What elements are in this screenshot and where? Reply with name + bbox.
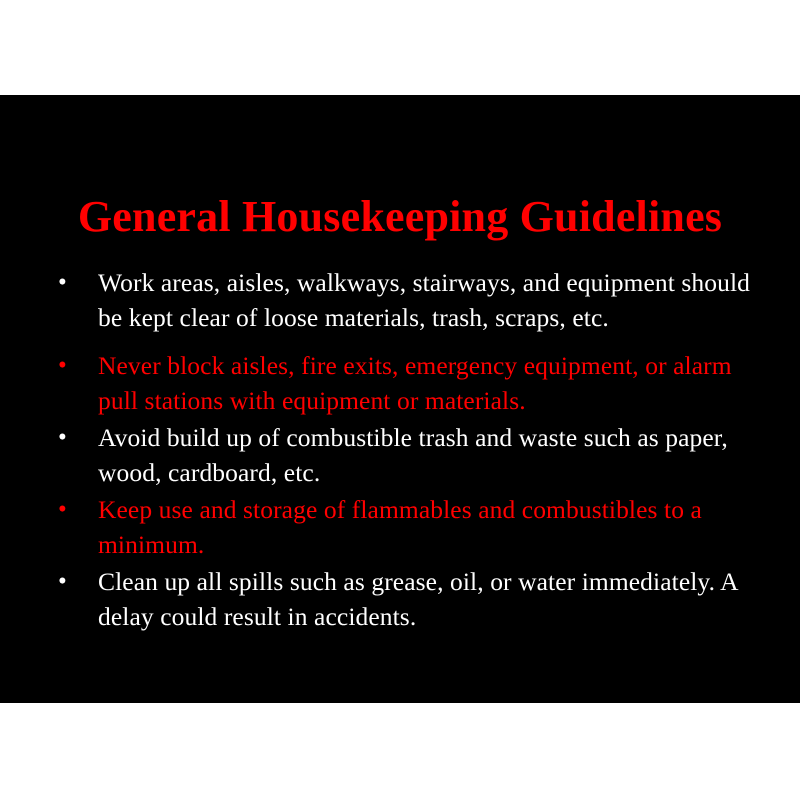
list-item: • Never block aisles, fire exits, emerge… [52, 348, 762, 418]
list-item: • Keep use and storage of flammables and… [52, 492, 762, 562]
list-item: • Clean up all spills such as grease, oi… [52, 564, 762, 634]
list-item-text: Clean up all spills such as grease, oil,… [98, 564, 762, 634]
list-item: • Work areas, aisles, walkways, stairway… [52, 265, 762, 335]
bullet-point-icon: • [52, 564, 98, 599]
slide-canvas: General Housekeeping Guidelines • Work a… [0, 95, 800, 703]
list-item: • Avoid build up of combustible trash an… [52, 420, 762, 490]
list-item-text: Avoid build up of combustible trash and … [98, 420, 762, 490]
bullet-point-icon: • [52, 492, 98, 527]
list-item-text: Work areas, aisles, walkways, stairways,… [98, 265, 762, 335]
bullet-point-icon: • [52, 348, 98, 383]
page-title: General Housekeeping Guidelines [0, 194, 800, 240]
list-item-text: Keep use and storage of flammables and c… [98, 492, 762, 562]
bullet-point-icon: • [52, 265, 98, 300]
bullet-list: • Work areas, aisles, walkways, stairway… [52, 265, 762, 636]
presentation-slide-page: General Housekeeping Guidelines • Work a… [0, 0, 800, 800]
list-item-text: Never block aisles, fire exits, emergenc… [98, 348, 762, 418]
bullet-point-icon: • [52, 420, 98, 455]
